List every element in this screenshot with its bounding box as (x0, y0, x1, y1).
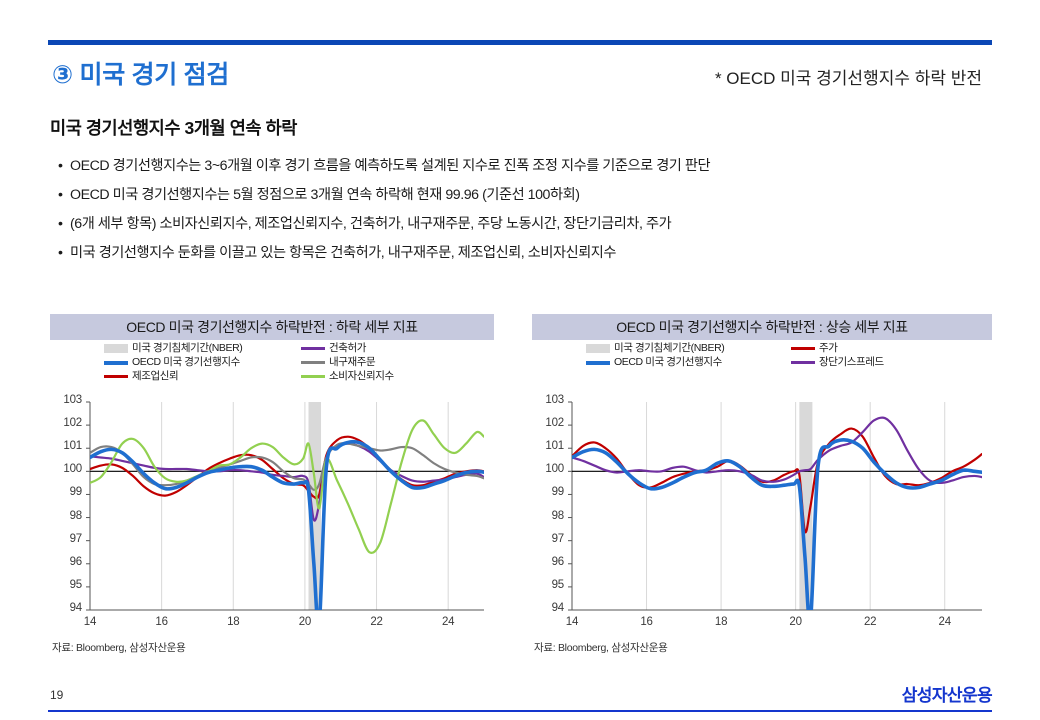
y-axis-label: 100 (538, 463, 564, 475)
bullet-marker: • (58, 239, 63, 268)
chart-panel-left: OECD 미국 경기선행지수 하락반전 : 하락 세부 지표 미국 경기침체기간… (50, 314, 494, 640)
list-item-text: OECD 경기선행지수는 3~6개월 이후 경기 흐름을 예측하도록 설계된 지… (70, 158, 710, 174)
x-axis-label: 20 (293, 616, 317, 628)
x-axis-label: 20 (784, 616, 808, 628)
series-line (572, 440, 982, 622)
x-axis-label: 18 (221, 616, 245, 628)
chart-plot-right: 949596979899100101102103141618202224 (532, 340, 992, 640)
y-axis-label: 94 (56, 602, 82, 614)
page-title: ③ 미국 경기 점검 (52, 55, 229, 91)
y-axis-label: 101 (56, 440, 82, 452)
x-axis-label: 22 (858, 616, 882, 628)
y-axis-label: 103 (56, 394, 82, 406)
series-line (572, 418, 982, 483)
y-axis-label: 97 (538, 533, 564, 545)
x-axis-label: 18 (709, 616, 733, 628)
list-item: • OECD 경기선행지수는 3~6개월 이후 경기 흐름을 예측하도록 설계된… (58, 152, 1008, 181)
y-axis-label: 100 (56, 463, 82, 475)
x-axis-label: 14 (560, 616, 584, 628)
bullet-list: • OECD 경기선행지수는 3~6개월 이후 경기 흐름을 예측하도록 설계된… (58, 152, 1008, 268)
bullet-marker: • (58, 152, 63, 181)
x-axis-label: 24 (436, 616, 460, 628)
list-item-text: (6개 세부 항목) 소비자신뢰지수, 제조업신뢰지수, 건축허가, 내구재주문… (70, 216, 671, 232)
footer-divider (48, 710, 992, 712)
y-axis-label: 97 (56, 533, 82, 545)
y-axis-label: 98 (56, 510, 82, 522)
brand-logo: 삼성자산운용 (902, 681, 992, 706)
y-axis-label: 95 (56, 579, 82, 591)
y-axis-label: 101 (538, 440, 564, 452)
page-number: 19 (50, 688, 63, 702)
list-item-text: 미국 경기선행지수 둔화를 이끌고 있는 항목은 건축허가, 내구재주문, 제조… (70, 245, 616, 261)
x-axis-label: 24 (933, 616, 957, 628)
y-axis-label: 99 (538, 486, 564, 498)
line-chart (50, 340, 494, 640)
y-axis-label: 95 (538, 579, 564, 591)
list-item-text: OECD 미국 경기선행지수는 5월 정점으로 3개월 연속 하락해 현재 99… (70, 187, 579, 203)
y-axis-label: 102 (538, 417, 564, 429)
header-note: * OECD 미국 경기선행지수 하락 반전 (715, 64, 982, 89)
y-axis-label: 102 (56, 417, 82, 429)
x-axis-label: 16 (150, 616, 174, 628)
chart-title-right: OECD 미국 경기선행지수 하락반전 : 상승 세부 지표 (532, 314, 992, 340)
chart-title-left: OECD 미국 경기선행지수 하락반전 : 하락 세부 지표 (50, 314, 494, 340)
bullet-marker: • (58, 210, 63, 239)
x-axis-label: 16 (635, 616, 659, 628)
bullet-marker: • (58, 181, 63, 210)
y-axis-label: 94 (538, 602, 564, 614)
line-chart (532, 340, 992, 640)
list-item: • OECD 미국 경기선행지수는 5월 정점으로 3개월 연속 하락해 현재 … (58, 181, 1008, 210)
y-axis-label: 96 (538, 556, 564, 568)
chart-plot-left: 949596979899100101102103141618202224 (50, 340, 494, 640)
y-axis-label: 103 (538, 394, 564, 406)
y-axis-label: 96 (56, 556, 82, 568)
list-item: • (6개 세부 항목) 소비자신뢰지수, 제조업신뢰지수, 건축허가, 내구재… (58, 210, 1008, 239)
section-subtitle: 미국 경기선행지수 3개월 연속 하락 (50, 115, 297, 140)
list-item: • 미국 경기선행지수 둔화를 이끌고 있는 항목은 건축허가, 내구재주문, … (58, 239, 1008, 268)
header-divider (48, 40, 992, 45)
x-axis-label: 14 (78, 616, 102, 628)
chart-body-left: 미국 경기침체기간(NBER)건축허가OECD 미국 경기선행지수내구재주문제조… (50, 340, 494, 640)
chart-body-right: 미국 경기침체기간(NBER)주가OECD 미국 경기선행지수장단기스프레드 9… (532, 340, 992, 640)
series-line (90, 442, 484, 627)
chart-panel-right: OECD 미국 경기선행지수 하락반전 : 상승 세부 지표 미국 경기침체기간… (532, 314, 992, 640)
chart-source-right: 자료: Bloomberg, 삼성자산운용 (534, 640, 667, 655)
chart-source-left: 자료: Bloomberg, 삼성자산운용 (52, 640, 185, 655)
y-axis-label: 99 (56, 486, 82, 498)
y-axis-label: 98 (538, 510, 564, 522)
x-axis-label: 22 (365, 616, 389, 628)
